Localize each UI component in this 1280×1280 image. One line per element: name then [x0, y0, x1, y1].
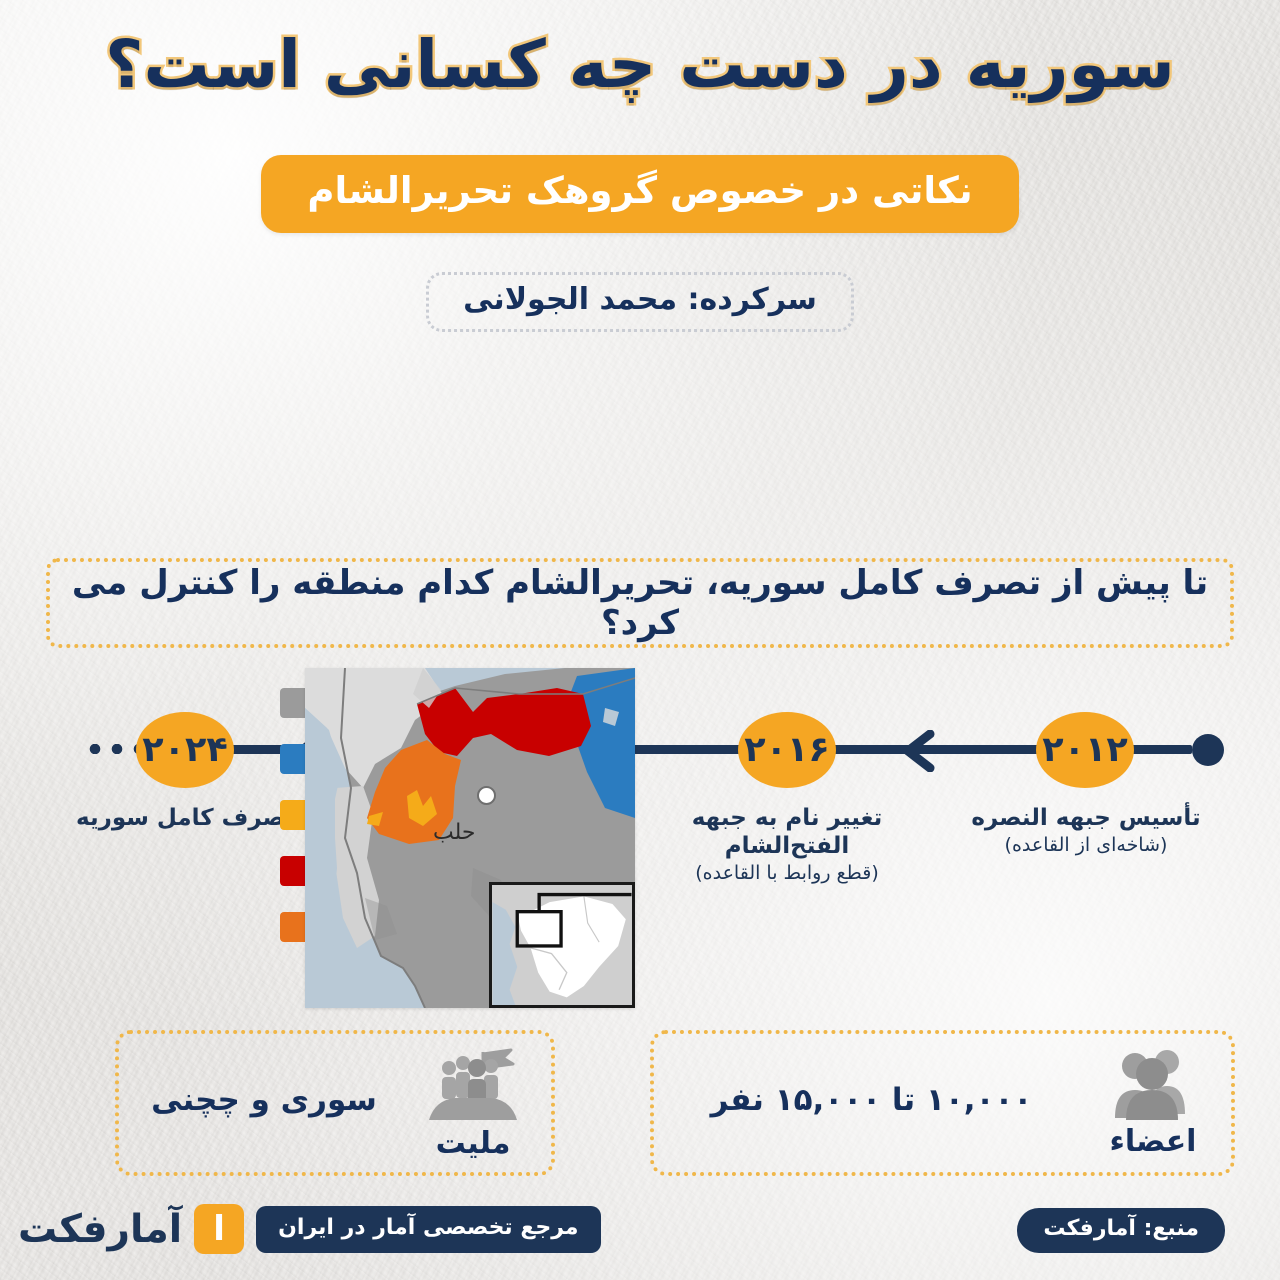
card-title: اعضاء	[1110, 1124, 1197, 1159]
map-inset-graphic	[492, 885, 632, 1005]
map-locator-inset	[489, 882, 635, 1008]
leader-box: سرکرده: محمد الجولانی	[0, 272, 1280, 332]
timeline-node-2016[interactable]: ۲۰۱۶	[738, 712, 836, 788]
infographic-page: سوریه در دست چه کسانی است؟ نکاتی در خصوص…	[0, 0, 1280, 1280]
subtitle-text: نکاتی در خصوص گروهک تحریرالشام	[261, 155, 1018, 233]
brand-name: آمارفکت	[18, 1207, 182, 1252]
nationality-card: ملیت سوری و چچنی	[115, 1030, 555, 1176]
timeline-node-2012[interactable]: ۲۰۱۲	[1036, 712, 1134, 788]
card-title: ملیت	[436, 1126, 511, 1161]
timeline-node-2024[interactable]: ۲۰۲۴	[136, 712, 234, 788]
timeline-year-2016: ۲۰۱۶	[744, 730, 829, 770]
card-value: سوری و چچنی	[119, 1082, 409, 1124]
timeline-caption-2012: تأسیس جبهه النصره (شاخه‌ای از القاعده)	[955, 804, 1217, 857]
timeline-caption-main: تأسیس جبهه النصره	[955, 804, 1217, 832]
people-group-icon	[1107, 1048, 1199, 1122]
card-value: ۱۰,۰۰۰ تا ۱۵,۰۰۰ نفر	[654, 1082, 1089, 1124]
syria-control-map: حلب	[305, 668, 635, 1008]
members-card: اعضاء ۱۰,۰۰۰ تا ۱۵,۰۰۰ نفر	[650, 1030, 1235, 1176]
timeline-caption-2016: تغییر نام به جبهه الفتح‌الشام (قطع روابط…	[632, 804, 942, 885]
brand-tagline: مرجع تخصصی آمار در ایران	[256, 1206, 600, 1253]
timeline: ۲۰۲۴ تصرف کامل سوریه ۲۰۱۷ تشکیل تحریرالش…	[0, 352, 1280, 532]
page-title: سوریه در دست چه کسانی است؟	[0, 28, 1280, 102]
timeline-caption-sub: (قطع روابط با القاعده)	[632, 862, 942, 885]
crowd-flag-icon	[425, 1046, 521, 1124]
map-city-label-aleppo: حلب	[433, 820, 476, 845]
timeline-caption-2024: تصرف کامل سوریه	[60, 804, 310, 834]
subtitle-banner: نکاتی در خصوص گروهک تحریرالشام	[0, 155, 1280, 233]
question-banner: تا پیش از تصرف کامل سوریه، تحریرالشام کد…	[46, 558, 1234, 648]
card-icon-wrap: ملیت	[409, 1046, 537, 1161]
timeline-arrow-3	[900, 730, 942, 772]
timeline-end-dot	[1192, 734, 1224, 766]
map-city-dot-aleppo	[477, 786, 496, 805]
source-badge: منبع: آمارفکت	[1017, 1208, 1225, 1253]
timeline-caption-main: تصرف کامل سوریه	[60, 804, 310, 832]
brand-footer: آمارفکت ا مرجع تخصصی آمار در ایران	[18, 1204, 601, 1254]
timeline-year-2024: ۲۰۲۴	[142, 730, 227, 770]
timeline-caption-sub: (شاخه‌ای از القاعده)	[955, 834, 1217, 857]
timeline-caption-main: تغییر نام به جبهه الفتح‌الشام	[632, 804, 942, 860]
leader-text: سرکرده: محمد الجولانی	[426, 272, 854, 332]
brand-logo-icon: ا	[194, 1204, 244, 1254]
timeline-year-2012: ۲۰۱۲	[1042, 730, 1127, 770]
card-icon-wrap: اعضاء	[1089, 1048, 1217, 1159]
